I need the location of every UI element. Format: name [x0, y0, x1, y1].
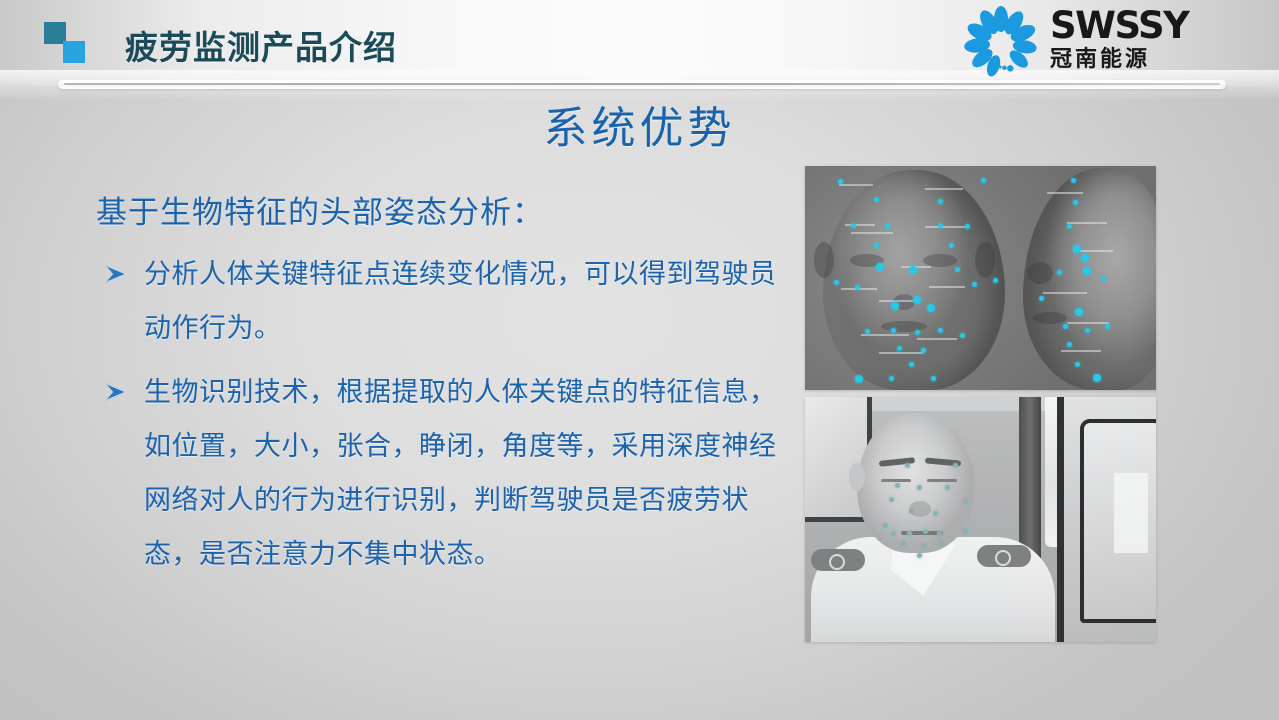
landmark-label-tick: [917, 338, 957, 340]
landmark-point: [855, 285, 860, 290]
landmark-point: [909, 362, 914, 367]
face-model-scene: [805, 166, 1156, 390]
landmark-point: [1067, 224, 1072, 229]
cab-right-window: [1057, 397, 1156, 642]
landmark-point: [981, 178, 986, 183]
landmark-point: [927, 304, 935, 312]
arrow-bullet-icon: [106, 366, 136, 420]
landmark-label-tick: [839, 184, 873, 186]
landmark-point: [1057, 270, 1062, 275]
landmark-point: [891, 302, 899, 310]
landmark-point: [865, 329, 870, 334]
landmark-point: [953, 463, 958, 468]
landmark-point: [838, 179, 843, 184]
landmark-point: [885, 224, 890, 229]
list-item: 生物识别技术，根据提取的人体关键点的特征信息，如位置，大小，张合，睁闭，角度等，…: [96, 366, 786, 582]
landmark-point: [1081, 254, 1089, 262]
landmark-point: [917, 553, 922, 558]
landmark-point: [851, 223, 856, 228]
landmark-label-tick: [879, 352, 923, 354]
landmark-point: [901, 541, 906, 546]
driver-right-eye-closed: [927, 479, 957, 482]
landmark-point: [923, 529, 928, 534]
driver-epaulette-left: [811, 549, 865, 571]
landmark-point: [1101, 276, 1106, 281]
logo-text-block: SWSSY 冠南能源: [1050, 7, 1215, 73]
landmark-point: [965, 224, 970, 229]
landmark-point: [1073, 245, 1081, 253]
landmark-point: [949, 243, 954, 248]
landmark-point: [1093, 374, 1101, 382]
banner-title: 疲劳监测产品介绍: [125, 21, 397, 69]
driver-epaulette-right: [977, 545, 1031, 567]
landmark-label-tick: [1061, 350, 1101, 352]
landmark-label-tick: [925, 226, 965, 228]
decorative-square-light-icon: [63, 41, 85, 63]
outside-building: [1114, 473, 1148, 553]
right-ear-shade: [975, 242, 995, 278]
bullet-list: 分析人体关键特征点连续变化情况，可以得到驾驶员动作行为。 生物识别技术，根据提取…: [96, 248, 786, 582]
landmark-point: [913, 296, 921, 304]
landmark-point: [933, 511, 938, 516]
landmark-point: [938, 223, 943, 228]
landmark-point: [972, 282, 977, 287]
lead-heading: 基于生物特征的头部姿态分析：: [96, 192, 786, 234]
landmark-point: [1039, 296, 1044, 301]
list-item-text: 分析人体关键特征点连续变化情况，可以得到驾驶员动作行为。: [144, 259, 777, 344]
swssy-petal-flower-logo-icon: [962, 6, 1040, 78]
profile-mouth-shade: [1033, 312, 1067, 324]
landmark-label-tick: [1067, 322, 1109, 324]
landmark-point: [937, 531, 942, 536]
epaulette-badge-icon: [995, 550, 1011, 566]
landmark-label-tick: [929, 286, 965, 288]
landmark-point: [1063, 324, 1068, 329]
mouth-shade: [881, 321, 927, 332]
landmark-point: [1071, 178, 1076, 183]
epaulette-badge-icon: [829, 554, 845, 570]
landmark-point: [909, 509, 914, 514]
company-logo: SWSSY 冠南能源: [962, 4, 1217, 78]
arrow-bullet-icon: [106, 248, 136, 302]
logo-wordmark: SWSSY: [1050, 7, 1215, 45]
landmark-point: [895, 483, 900, 488]
landmark-point: [907, 531, 912, 536]
landmark-point: [905, 463, 910, 468]
landmark-point: [931, 376, 936, 381]
decorative-squares: [44, 22, 100, 70]
landmark-point: [1083, 267, 1091, 275]
landmark-point: [921, 543, 926, 548]
landmark-point: [915, 330, 920, 335]
landmark-point: [1085, 328, 1090, 333]
landmark-point: [883, 523, 888, 528]
cab-right-glass: [1080, 419, 1156, 623]
landmark-point: [855, 375, 863, 383]
landmark-label-tick: [1067, 222, 1107, 224]
driver-cab-fatigue-photo-image: [805, 397, 1156, 642]
landmark-point: [889, 376, 894, 381]
landmark-point: [891, 531, 896, 536]
landmark-label-tick: [925, 188, 963, 190]
landmark-point: [945, 485, 950, 490]
landmark-point: [874, 197, 879, 202]
landmark-point: [889, 497, 894, 502]
landmark-point: [938, 328, 943, 333]
slide-canvas: 疲劳监测产品介绍: [0, 0, 1279, 720]
landmark-point: [939, 541, 944, 546]
landmark-label-tick: [1047, 192, 1083, 194]
profile-nose-shade: [1027, 262, 1053, 284]
landmark-point: [963, 499, 968, 504]
landmark-point: [1067, 342, 1072, 347]
cab-scene: [805, 397, 1156, 642]
landmark-label-tick: [1043, 292, 1087, 294]
landmark-point: [921, 348, 926, 353]
landmark-label-tick: [851, 232, 893, 234]
driver-ear: [849, 463, 865, 491]
front-face-model: [823, 170, 1005, 390]
landmark-point: [834, 280, 839, 285]
landmark-point: [1075, 362, 1080, 367]
landmark-point: [897, 346, 902, 351]
landmark-point: [876, 263, 884, 271]
3d-face-landmark-model-image: [805, 166, 1156, 390]
driver-left-eye-closed: [881, 479, 911, 482]
page-title: 系统优势: [0, 92, 1279, 156]
landmark-point: [891, 328, 896, 333]
landmark-point: [909, 266, 917, 274]
landmark-point: [960, 333, 965, 338]
landmark-point: [938, 199, 943, 204]
landmark-point: [1075, 308, 1083, 316]
left-ear-shade: [814, 242, 834, 278]
landmark-point: [993, 278, 998, 283]
landmark-point: [874, 243, 879, 248]
content-text-column: 基于生物特征的头部姿态分析： 分析人体关键特征点连续变化情况，可以得到驾驶员动作…: [96, 192, 786, 592]
landmark-label-tick: [845, 224, 875, 226]
landmark-point: [955, 267, 960, 272]
landmark-label-tick: [861, 334, 909, 336]
landmark-point: [917, 485, 922, 490]
header-separator-line: [64, 83, 1220, 85]
landmark-point: [1073, 200, 1078, 205]
landmark-point: [1105, 324, 1110, 329]
list-item-text: 生物识别技术，根据提取的人体关键点的特征信息，如位置，大小，张合，睁闭，角度等，…: [144, 377, 777, 570]
landmark-point: [963, 529, 968, 534]
logo-company-name: 冠南能源: [1050, 47, 1215, 73]
list-item: 分析人体关键特征点连续变化情况，可以得到驾驶员动作行为。: [96, 248, 786, 356]
